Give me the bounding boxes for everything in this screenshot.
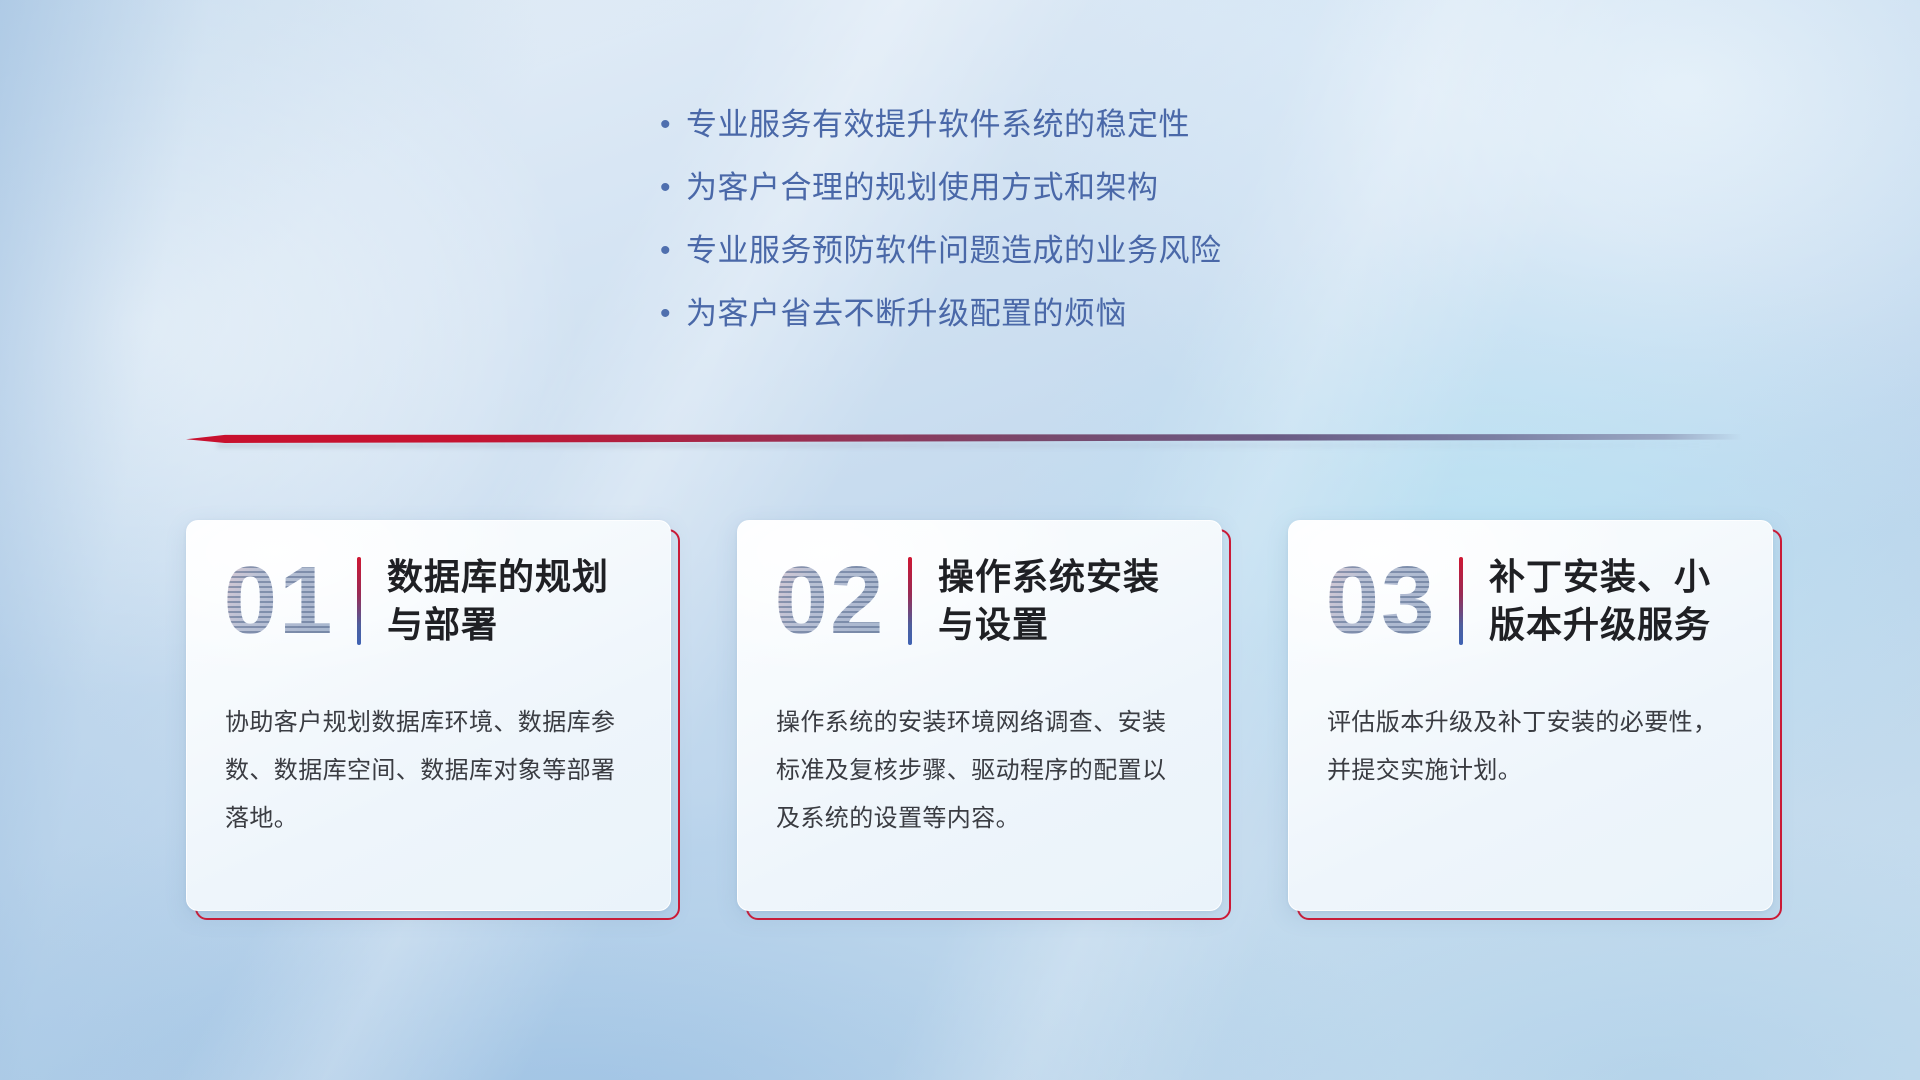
card-header: 02 操作系统安装与设置 [738,521,1221,681]
card-title: 补丁安装、小版本升级服务 [1489,553,1739,649]
service-card-03[interactable]: 03 补丁安装、小版本升级服务 评估版本升级及补丁安装的必要性，并提交实施计划。 [1288,520,1782,920]
bullet-text: 为客户合理的规划使用方式和架构 [686,167,1159,209]
card-number: 02 [756,541,904,661]
bullet-dot-icon: • [660,230,686,272]
card-number: 01 [205,541,353,661]
card-header: 03 补丁安装、小版本升级服务 [1289,521,1772,681]
benefits-bullet-list: • 专业服务有效提升软件系统的稳定性 • 为客户合理的规划使用方式和架构 • 专… [660,104,1480,356]
card-title: 数据库的规划与部署 [387,553,637,649]
service-card-02[interactable]: 02 操作系统安装与设置 操作系统的安装环境网络调查、安装标准及复核步骤、驱动程… [737,520,1231,920]
bullet-dot-icon: • [660,293,686,335]
bullet-text: 专业服务预防软件问题造成的业务风险 [686,230,1222,272]
service-card-01[interactable]: 01 数据库的规划与部署 协助客户规划数据库环境、数据库参数、数据库空间、数据库… [186,520,680,920]
card-divider-bar [908,557,912,645]
divider-shadow [217,443,1726,448]
card-body-text: 协助客户规划数据库环境、数据库参数、数据库空间、数据库对象等部署落地。 [187,681,670,843]
service-card-row: 01 数据库的规划与部署 协助客户规划数据库环境、数据库参数、数据库空间、数据库… [186,520,1782,920]
card-header: 01 数据库的规划与部署 [187,521,670,681]
section-divider [186,434,1742,452]
bullet-dot-icon: • [660,167,686,209]
bullet-text: 为客户省去不断升级配置的烦恼 [686,293,1127,335]
list-item: • 专业服务有效提升软件系统的稳定性 [660,104,1480,146]
list-item: • 为客户省去不断升级配置的烦恼 [660,293,1480,335]
bullet-dot-icon: • [660,104,686,146]
card-title: 操作系统安装与设置 [938,553,1188,649]
list-item: • 专业服务预防软件问题造成的业务风险 [660,230,1480,272]
card-surface: 03 补丁安装、小版本升级服务 评估版本升级及补丁安装的必要性，并提交实施计划。 [1288,520,1773,911]
bullet-text: 专业服务有效提升软件系统的稳定性 [686,104,1190,146]
card-divider-bar [1459,557,1463,645]
card-body-text: 评估版本升级及补丁安装的必要性，并提交实施计划。 [1289,681,1772,795]
list-item: • 为客户合理的规划使用方式和架构 [660,167,1480,209]
card-divider-bar [357,557,361,645]
card-number: 03 [1307,541,1455,661]
card-body-text: 操作系统的安装环境网络调查、安装标准及复核步骤、驱动程序的配置以及系统的设置等内… [738,681,1221,843]
divider-bar [186,434,1742,443]
card-surface: 02 操作系统安装与设置 操作系统的安装环境网络调查、安装标准及复核步骤、驱动程… [737,520,1222,911]
card-surface: 01 数据库的规划与部署 协助客户规划数据库环境、数据库参数、数据库空间、数据库… [186,520,671,911]
